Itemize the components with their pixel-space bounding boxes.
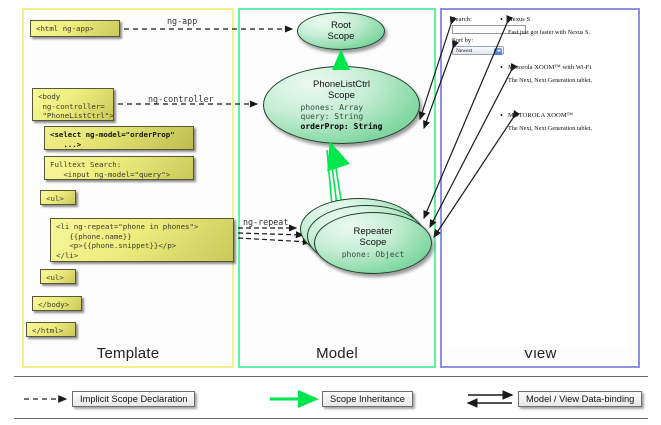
phonelistctrl-scope-props: phones: Arrayquery: StringorderProp: Str… [301,103,383,131]
repeater-scope-title: RepeaterScope [353,226,392,248]
sort-by-selected-value: Newest [456,48,472,54]
phone-snippet: The Next, Next Generation tablet. [508,125,632,132]
legend-label-implicit-scope-declaration: Implicit Scope Declaration [72,391,195,407]
code-ul-close: <ul> [40,269,76,284]
code-body-open: <body ng-controller= "PhoneListCtrl"> [32,88,114,121]
phonelistctrl-scope-title: PhoneListCtrlScope [313,79,370,101]
code-li-ng-repeat: <li ng-repeat="phone in phones"> {{phone… [50,218,234,262]
phone-list-item: Nexus S Fast just got faster with Nexus … [508,16,632,36]
view-rendered-app: Search: Sort by: Newest Nexus S Fast jus… [448,14,632,350]
phone-name: Nexus S [508,16,632,23]
angularjs-scope-diagram: Template Model View <html ng-app> <body … [0,0,661,425]
phone-snippet: Fast just got faster with Nexus S. [508,29,632,36]
root-scope-title: RootScope [328,20,355,42]
code-body-close: </body> [32,296,82,311]
phone-snippet: The Next, Next Generation tablet. [508,77,632,84]
code-ul-open: <ul> [40,190,76,205]
phone-list-item: MOTOROLA XOOM™ The Next, Next Generation… [508,112,632,132]
sort-by-label: Sort by: [452,37,473,44]
panel-model: Model [238,8,436,368]
sort-by-select[interactable]: Newest [452,46,504,55]
panel-template: Template [22,8,234,368]
edge-label-ng-repeat: ng-repeat [243,217,288,227]
repeater-scope-props: phone: Object [342,250,405,259]
oval-phonelistctrl-scope: PhoneListCtrlScope phones: Arrayquery: S… [263,66,420,144]
search-label: Search: [452,16,472,23]
chevron-down-icon [494,48,502,55]
edge-label-ng-app: ng-app [167,16,197,26]
edge-label-ng-controller: ng-controller [148,94,214,104]
phone-name: Motorola XOOM™ with Wi-Fi [508,64,632,71]
code-html-close: </html> [26,322,76,337]
legend-label-model-view-databinding: Model / View Data-binding [518,391,642,407]
oval-root-scope: RootScope [297,12,385,50]
panel-label-model: Model [240,345,434,362]
legend-divider-bottom [14,418,648,419]
code-html-open: <html ng-app> [30,20,120,37]
phone-name: MOTOROLA XOOM™ [508,112,632,119]
oval-repeater-scope: RepeaterScope phone: Object [314,212,432,274]
code-select-orderprop: <select ng-model="orderProp" ...> [44,126,194,150]
legend-label-scope-inheritance: Scope Inheritance [322,391,413,407]
phone-list-item: Motorola XOOM™ with Wi-Fi The Next, Next… [508,64,632,84]
legend-divider-top [14,376,648,377]
code-fulltext-search: Fulltext Search: <input ng-model="query"… [44,156,194,180]
panel-label-template: Template [24,345,232,362]
